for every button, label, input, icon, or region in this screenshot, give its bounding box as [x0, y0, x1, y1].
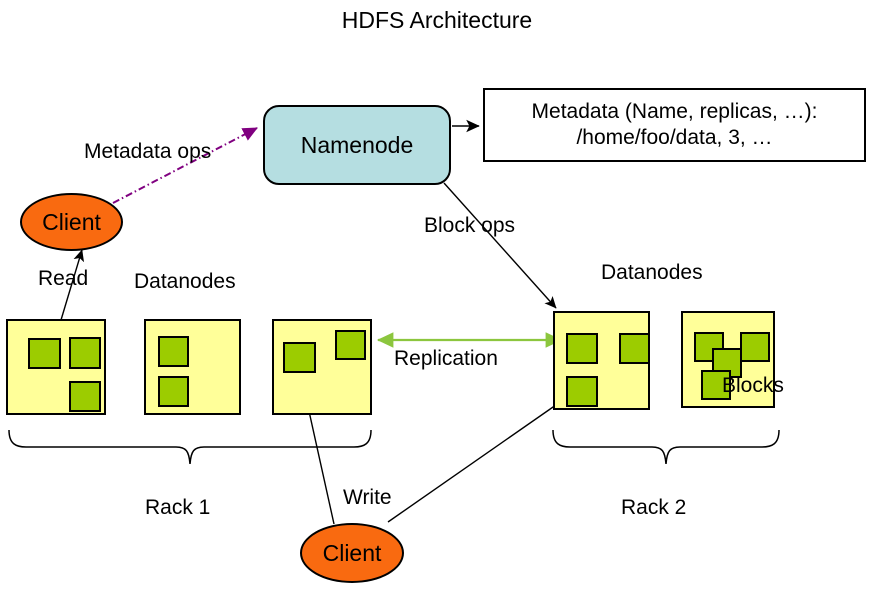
block	[566, 333, 598, 364]
rack-2-brace	[553, 430, 779, 464]
write-arrow-rack2	[388, 398, 566, 522]
metadata-box[interactable]: Metadata (Name, replicas, …): /home/foo/…	[483, 88, 866, 162]
datanode-1[interactable]	[6, 319, 106, 415]
block	[158, 336, 189, 367]
client-bottom-label: Client	[323, 540, 382, 567]
blocks-label: Blocks	[722, 375, 784, 397]
block-ops-arrow	[444, 183, 556, 308]
metadata-line-2: /home/foo/data, 3, …	[485, 125, 864, 151]
read-label: Read	[38, 268, 88, 290]
datanode-4[interactable]	[553, 311, 650, 410]
block	[28, 338, 61, 369]
block	[335, 330, 366, 360]
block	[69, 381, 101, 412]
metadata-ops-label: Metadata ops	[84, 141, 211, 163]
block	[69, 337, 101, 369]
page-title: HDFS Architecture	[230, 8, 644, 32]
block	[740, 332, 770, 362]
block	[283, 342, 316, 373]
namenode-box[interactable]: Namenode	[263, 105, 451, 185]
rack-1-brace	[9, 430, 371, 464]
write-label: Write	[343, 487, 392, 509]
client-bottom[interactable]: Client	[300, 523, 404, 583]
client-top[interactable]: Client	[20, 193, 123, 251]
rack-2-label: Rack 2	[621, 497, 686, 519]
rack-1-label: Rack 1	[145, 497, 210, 519]
client-top-label: Client	[42, 209, 101, 236]
datanode-2[interactable]	[144, 319, 241, 415]
metadata-line-1: Metadata (Name, replicas, …):	[485, 99, 864, 125]
block	[158, 376, 189, 407]
block	[566, 376, 598, 407]
block	[619, 333, 650, 364]
replication-label: Replication	[394, 348, 498, 370]
block-ops-label: Block ops	[424, 215, 515, 237]
datanodes-label-left: Datanodes	[134, 271, 236, 293]
hdfs-architecture-diagram: HDFS Architecture Namenode Metadata (Nam…	[0, 0, 874, 604]
datanode-3[interactable]	[272, 319, 372, 415]
datanodes-label-right: Datanodes	[601, 262, 703, 284]
namenode-label: Namenode	[265, 132, 449, 159]
